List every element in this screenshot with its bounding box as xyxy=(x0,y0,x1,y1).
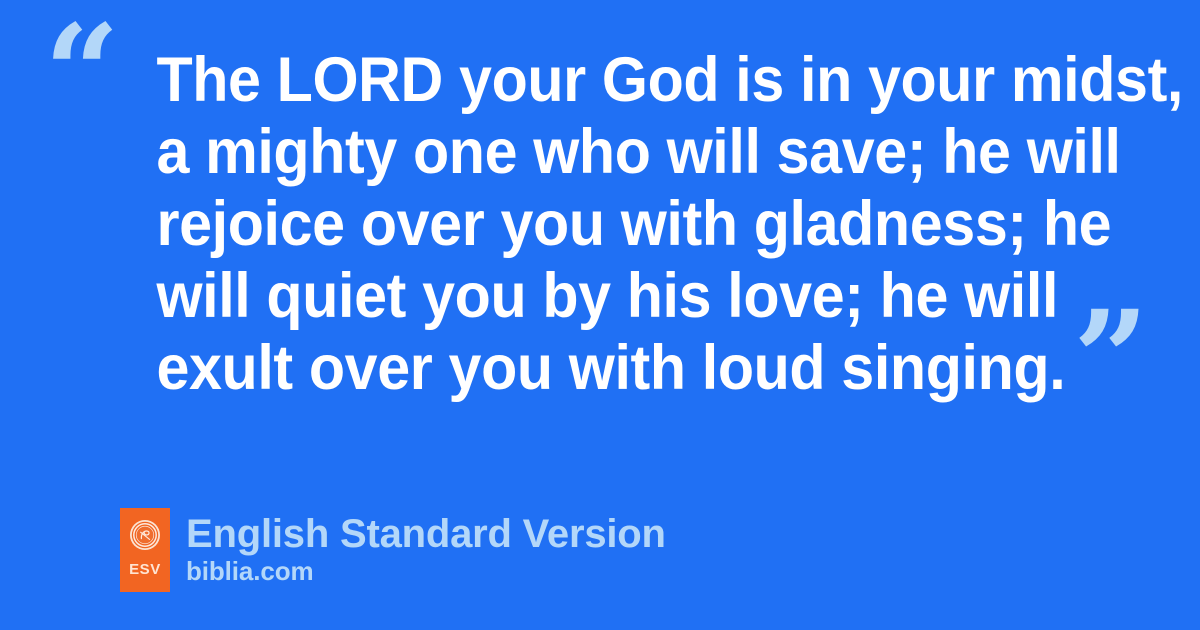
bible-version-name: English Standard Version xyxy=(186,512,666,556)
verse-image-card: “ The LORD your God is in your midst, a … xyxy=(0,0,1200,630)
attribution-text: English Standard Version biblia.com xyxy=(186,508,666,586)
site-url: biblia.com xyxy=(186,556,666,586)
attribution: ESV English Standard Version biblia.com xyxy=(120,508,666,592)
quote-block: The LORD your God is in your midst, a mi… xyxy=(0,44,1200,424)
esv-logo-label: ESV xyxy=(120,561,170,578)
closing-quote-icon: ” xyxy=(1073,294,1149,426)
quote-text: The LORD your God is in your midst, a mi… xyxy=(128,44,1076,404)
quote-line: rejoice over you with gladness; he xyxy=(156,188,1047,260)
quote-line: a mighty one who will save; he will xyxy=(156,116,1047,188)
quote-line: The LORD your God is in your midst, xyxy=(156,44,1047,116)
quote-line: exult over you with loud singing. xyxy=(156,332,1047,404)
quote-line: will quiet you by his love; he will xyxy=(156,260,1047,332)
esv-logo-badge: ESV xyxy=(120,508,170,592)
esv-seal-icon xyxy=(129,519,161,551)
